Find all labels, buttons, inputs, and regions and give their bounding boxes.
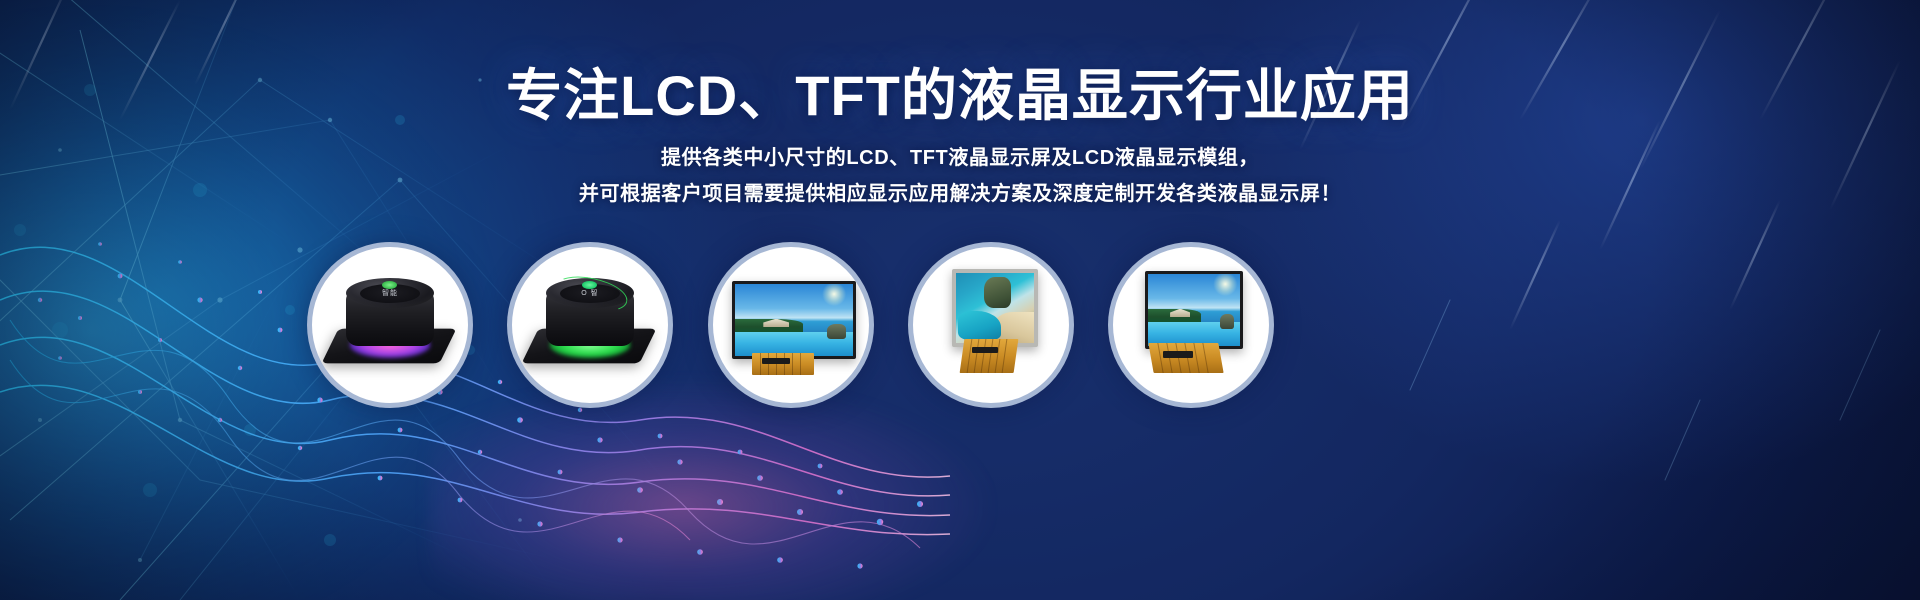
panel-bezel-5: [1145, 271, 1243, 349]
product-circle-2[interactable]: O 智: [507, 242, 673, 408]
panel-bezel-4: [952, 269, 1038, 347]
banner-text-block: 专注LCD、TFT的液晶显示行业应用 提供各类中小尺寸的LCD、TFT液晶显示屏…: [0, 0, 1920, 212]
panel-screen-5: [1148, 274, 1240, 346]
subtitle-line-2: 并可根据客户项目需要提供相应显示应用解决方案及深度定制开发各类液晶显示屏！: [0, 176, 1920, 212]
smart-speaker-green-image: O 智: [524, 266, 656, 384]
product-circle-row: 智能 O 智: [0, 242, 1920, 402]
flex-cable-3: [752, 353, 814, 375]
status-led-1: [382, 281, 397, 289]
magenta-glow: [430, 380, 990, 600]
driver-chip-3: [762, 358, 790, 364]
flex-cable-5: [1148, 343, 1223, 373]
driver-chip-5: [1163, 351, 1193, 358]
flex-cable-4: [960, 339, 1019, 373]
page-title: 专注LCD、TFT的液晶显示行业应用: [0, 0, 1920, 126]
device-label-1: 智能: [382, 290, 398, 298]
panel-screen-3: [735, 284, 853, 356]
device-label-2: O 智: [581, 290, 598, 298]
product-circle-4[interactable]: [908, 242, 1074, 408]
tft-lcd-panel-widescreen-image: [726, 265, 856, 385]
tft-lcd-module-small-image: [936, 263, 1046, 387]
panel-screen-4: [956, 273, 1034, 343]
smart-speaker-purple-image: 智能: [324, 266, 456, 384]
product-circle-5[interactable]: [1108, 242, 1274, 408]
panel-bezel-3: [732, 281, 856, 359]
subtitle-line-1: 提供各类中小尺寸的LCD、TFT液晶显示屏及LCD液晶显示模组，: [0, 140, 1920, 176]
status-led-2: [582, 281, 597, 289]
hero-banner: 专注LCD、TFT的液晶显示行业应用 提供各类中小尺寸的LCD、TFT液晶显示屏…: [0, 0, 1920, 600]
product-circle-3[interactable]: [708, 242, 874, 408]
tft-lcd-panel-with-fpc-image: [1131, 263, 1251, 387]
product-circle-1[interactable]: 智能: [307, 242, 473, 408]
driver-chip-4: [972, 347, 998, 353]
